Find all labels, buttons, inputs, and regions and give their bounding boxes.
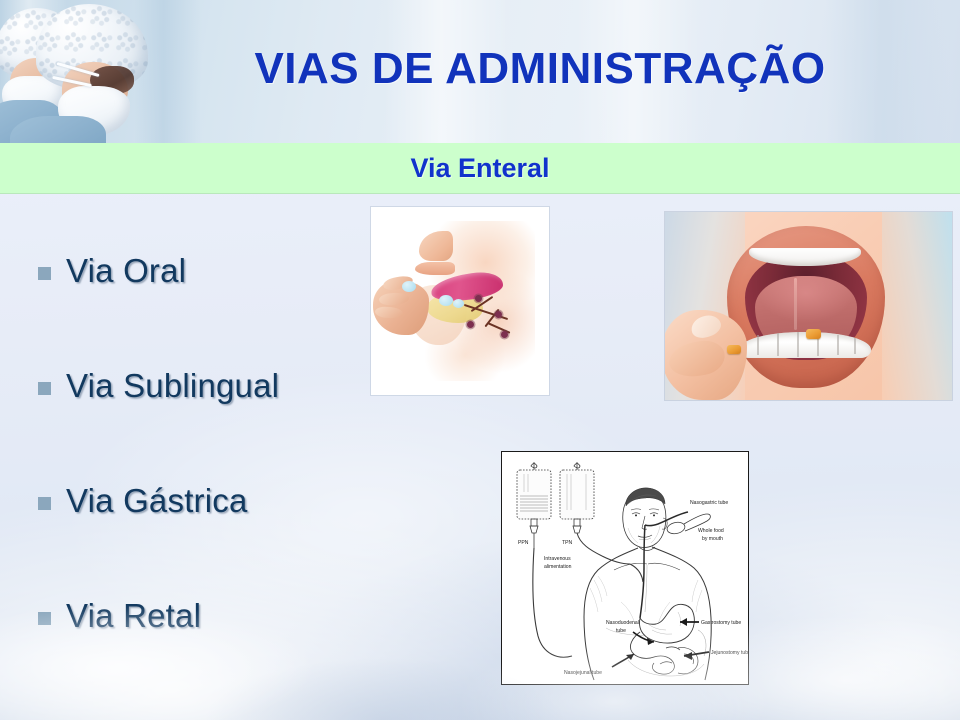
tooth-separator [757,335,759,355]
tooth-separator [854,338,856,354]
bullet-label: Via Retal [66,597,201,635]
slide-title: VIAS DE ADMINISTRAÇÃO [0,44,960,94]
feeding-tubes-svg: PPN TPN Intravenous alimentation Nasogas… [502,452,749,685]
tablet-icon [453,299,464,308]
diagram-label-tpn: TPN [562,540,573,546]
diagram-label-whole-food: Whole food [698,528,724,534]
bullet-label: Via Oral [66,252,186,290]
square-bullet-icon [38,382,51,395]
list-item[interactable]: Via Oral [38,253,398,289]
diagram-label-intravenous-alimentation-2: alimentation [544,564,572,570]
diagram-label-nasoduodenal-tube-2: tube [616,628,626,634]
vessel-node [467,321,474,328]
diagram-label-jejunostomy-tube: Jejunostomy tube [711,650,749,656]
square-bullet-icon [38,612,51,625]
bullet-label: Via Gástrica [66,482,248,520]
tooth-separator [777,333,779,356]
sublingual-tablet-icon [727,345,741,354]
list-item[interactable]: Via Retal [38,598,398,634]
diagram-label-whole-food-2: by mouth [702,536,723,542]
subtitle-text: Via Enteral [410,153,549,184]
lower-teeth [739,332,871,358]
surgical-scrubs [10,116,106,143]
diagram-label-nasogastric-tube: Nasogastric tube [690,500,728,506]
square-bullet-icon [38,497,51,510]
list-item[interactable]: Via Sublingual [38,368,398,404]
open-mouth-image [665,212,952,400]
square-bullet-icon [38,267,51,280]
tooth-separator [837,335,839,355]
diagram-label-gastrostomy-tube: Gastrostomy tube [701,620,741,626]
subtitle-bar: Via Enteral [0,143,960,194]
vessel-node [501,331,508,338]
vessel-node [495,311,502,318]
bullet-label: Via Sublingual [66,367,279,405]
tablet-icon [402,281,416,292]
bullet-list: Via Oral Via Sublingual Via Gástrica Via… [38,253,398,634]
diagram-label-ppn: PPN [518,540,529,546]
upper-lip-shape [415,262,455,275]
tablet-icon [439,295,453,306]
diagram-label-nasoduodenal-tube: Nasoduodenal [606,620,639,626]
diagram-label-intravenous-alimentation: Intravenous [544,556,571,562]
presentation-slide: VIAS DE ADMINISTRAÇÃO Via Enteral Via Or… [0,0,960,720]
feeding-tubes-diagram: PPN TPN Intravenous alimentation Nasogas… [501,451,749,685]
lingual-frenulum [794,278,797,330]
vessel-node [475,295,482,302]
background-right [882,212,952,400]
sublingual-profile-image [371,207,549,395]
tooth-separator [797,332,799,357]
diagram-label-nasojejunal-tube: Nasojejunal tube [564,670,602,676]
sublingual-tablet-icon [806,329,821,339]
list-item[interactable]: Via Gástrica [38,483,398,519]
